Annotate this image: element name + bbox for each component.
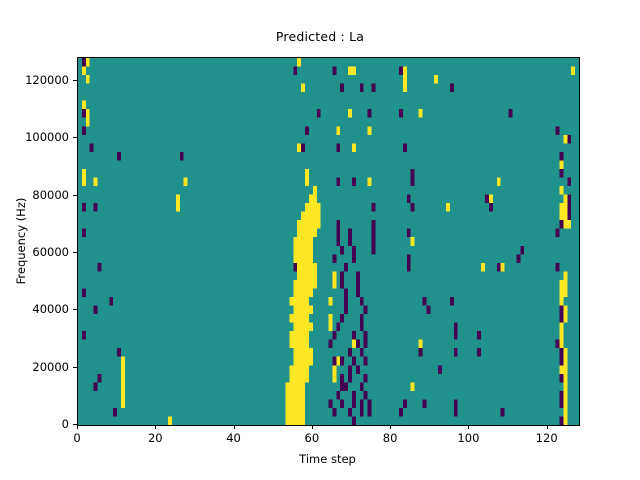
y-tick-mark <box>73 309 77 310</box>
x-axis-label: Time step <box>77 452 578 466</box>
heatmap-image <box>78 58 579 425</box>
x-tick-mark <box>155 425 156 429</box>
y-tick-mark <box>73 195 77 196</box>
x-tick-mark <box>234 425 235 429</box>
y-tick-label: 60000 <box>32 245 69 259</box>
y-tick-mark <box>73 367 77 368</box>
x-tick-mark <box>312 425 313 429</box>
x-tick-label: 0 <box>73 431 80 445</box>
y-tick-label: 40000 <box>32 302 69 316</box>
x-tick-mark <box>468 425 469 429</box>
x-tick-label: 80 <box>383 431 398 445</box>
heatmap-axes <box>77 57 580 426</box>
y-tick-label: 100000 <box>25 130 69 144</box>
y-tick-mark <box>73 252 77 253</box>
x-tick-label: 100 <box>457 431 479 445</box>
x-tick-mark <box>77 425 78 429</box>
y-tick-mark <box>73 137 77 138</box>
y-tick-label: 20000 <box>32 360 69 374</box>
y-axis-label: Frequency (Hz) <box>14 197 28 284</box>
y-tick-label: 120000 <box>25 73 69 87</box>
x-tick-mark <box>390 425 391 429</box>
y-tick-label: 0 <box>62 417 69 431</box>
y-tick-mark <box>73 80 77 81</box>
x-tick-label: 40 <box>226 431 241 445</box>
x-tick-label: 60 <box>305 431 320 445</box>
y-tick-mark <box>73 424 77 425</box>
x-tick-label: 20 <box>148 431 163 445</box>
x-tick-label: 120 <box>536 431 558 445</box>
x-tick-mark <box>547 425 548 429</box>
y-tick-label: 80000 <box>32 188 69 202</box>
chart-title: Predicted : La <box>0 29 640 44</box>
figure-canvas: Predicted : La 020406080100120 020000400… <box>0 0 640 480</box>
